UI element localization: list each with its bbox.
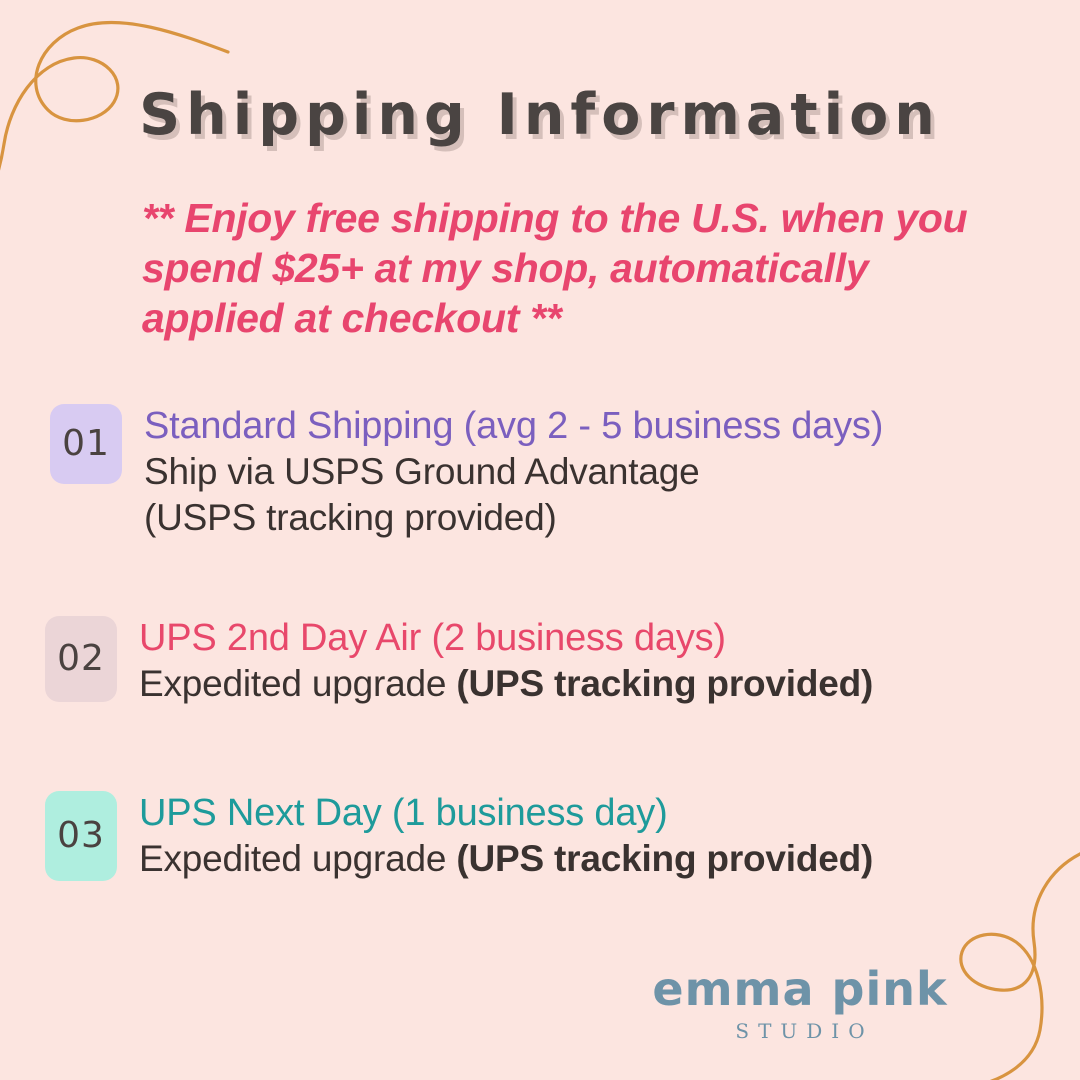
option-text-01: Standard Shipping (avg 2 - 5 business da… [144, 404, 883, 541]
poster-canvas: Shipping Information ** Enjoy free shipp… [0, 0, 1080, 1080]
option-body-bold-02: (UPS tracking provided) [456, 663, 873, 704]
brand-tagline: STUDIO [650, 1019, 950, 1043]
option-body-regular-03: Expedited upgrade [139, 838, 456, 879]
brand-logo: emma pink STUDIO [650, 963, 950, 1043]
option-body-line2-01: (USPS tracking provided) [144, 495, 883, 541]
page-title-container: Shipping Information [0, 82, 1080, 148]
option-body-03: Expedited upgrade (UPS tracking provided… [139, 836, 873, 882]
option-body-line1-01: Ship via USPS Ground Advantage [144, 449, 883, 495]
shipping-option-03: 03 UPS Next Day (1 business day) Expedit… [45, 791, 873, 882]
option-heading-02: UPS 2nd Day Air (2 business days) [139, 616, 873, 661]
option-body-regular-02: Expedited upgrade [139, 663, 456, 704]
option-body-02: Expedited upgrade (UPS tracking provided… [139, 661, 873, 707]
option-number-badge-02: 02 [45, 616, 117, 702]
option-text-02: UPS 2nd Day Air (2 business days) Expedi… [139, 616, 873, 707]
page-title: Shipping Information [139, 82, 941, 148]
option-number-badge-03: 03 [45, 791, 117, 881]
option-heading-03: UPS Next Day (1 business day) [139, 791, 873, 836]
decorative-squiggle-bottom-right [934, 850, 1080, 1080]
free-shipping-note: ** Enjoy free shipping to the U.S. when … [142, 193, 987, 343]
option-heading-01: Standard Shipping (avg 2 - 5 business da… [144, 404, 883, 449]
option-text-03: UPS Next Day (1 business day) Expedited … [139, 791, 873, 882]
shipping-option-01: 01 Standard Shipping (avg 2 - 5 business… [50, 404, 883, 541]
brand-name: emma pink [650, 963, 950, 1015]
shipping-option-02: 02 UPS 2nd Day Air (2 business days) Exp… [45, 616, 873, 707]
option-body-bold-03: (UPS tracking provided) [456, 838, 873, 879]
option-number-badge-01: 01 [50, 404, 122, 484]
